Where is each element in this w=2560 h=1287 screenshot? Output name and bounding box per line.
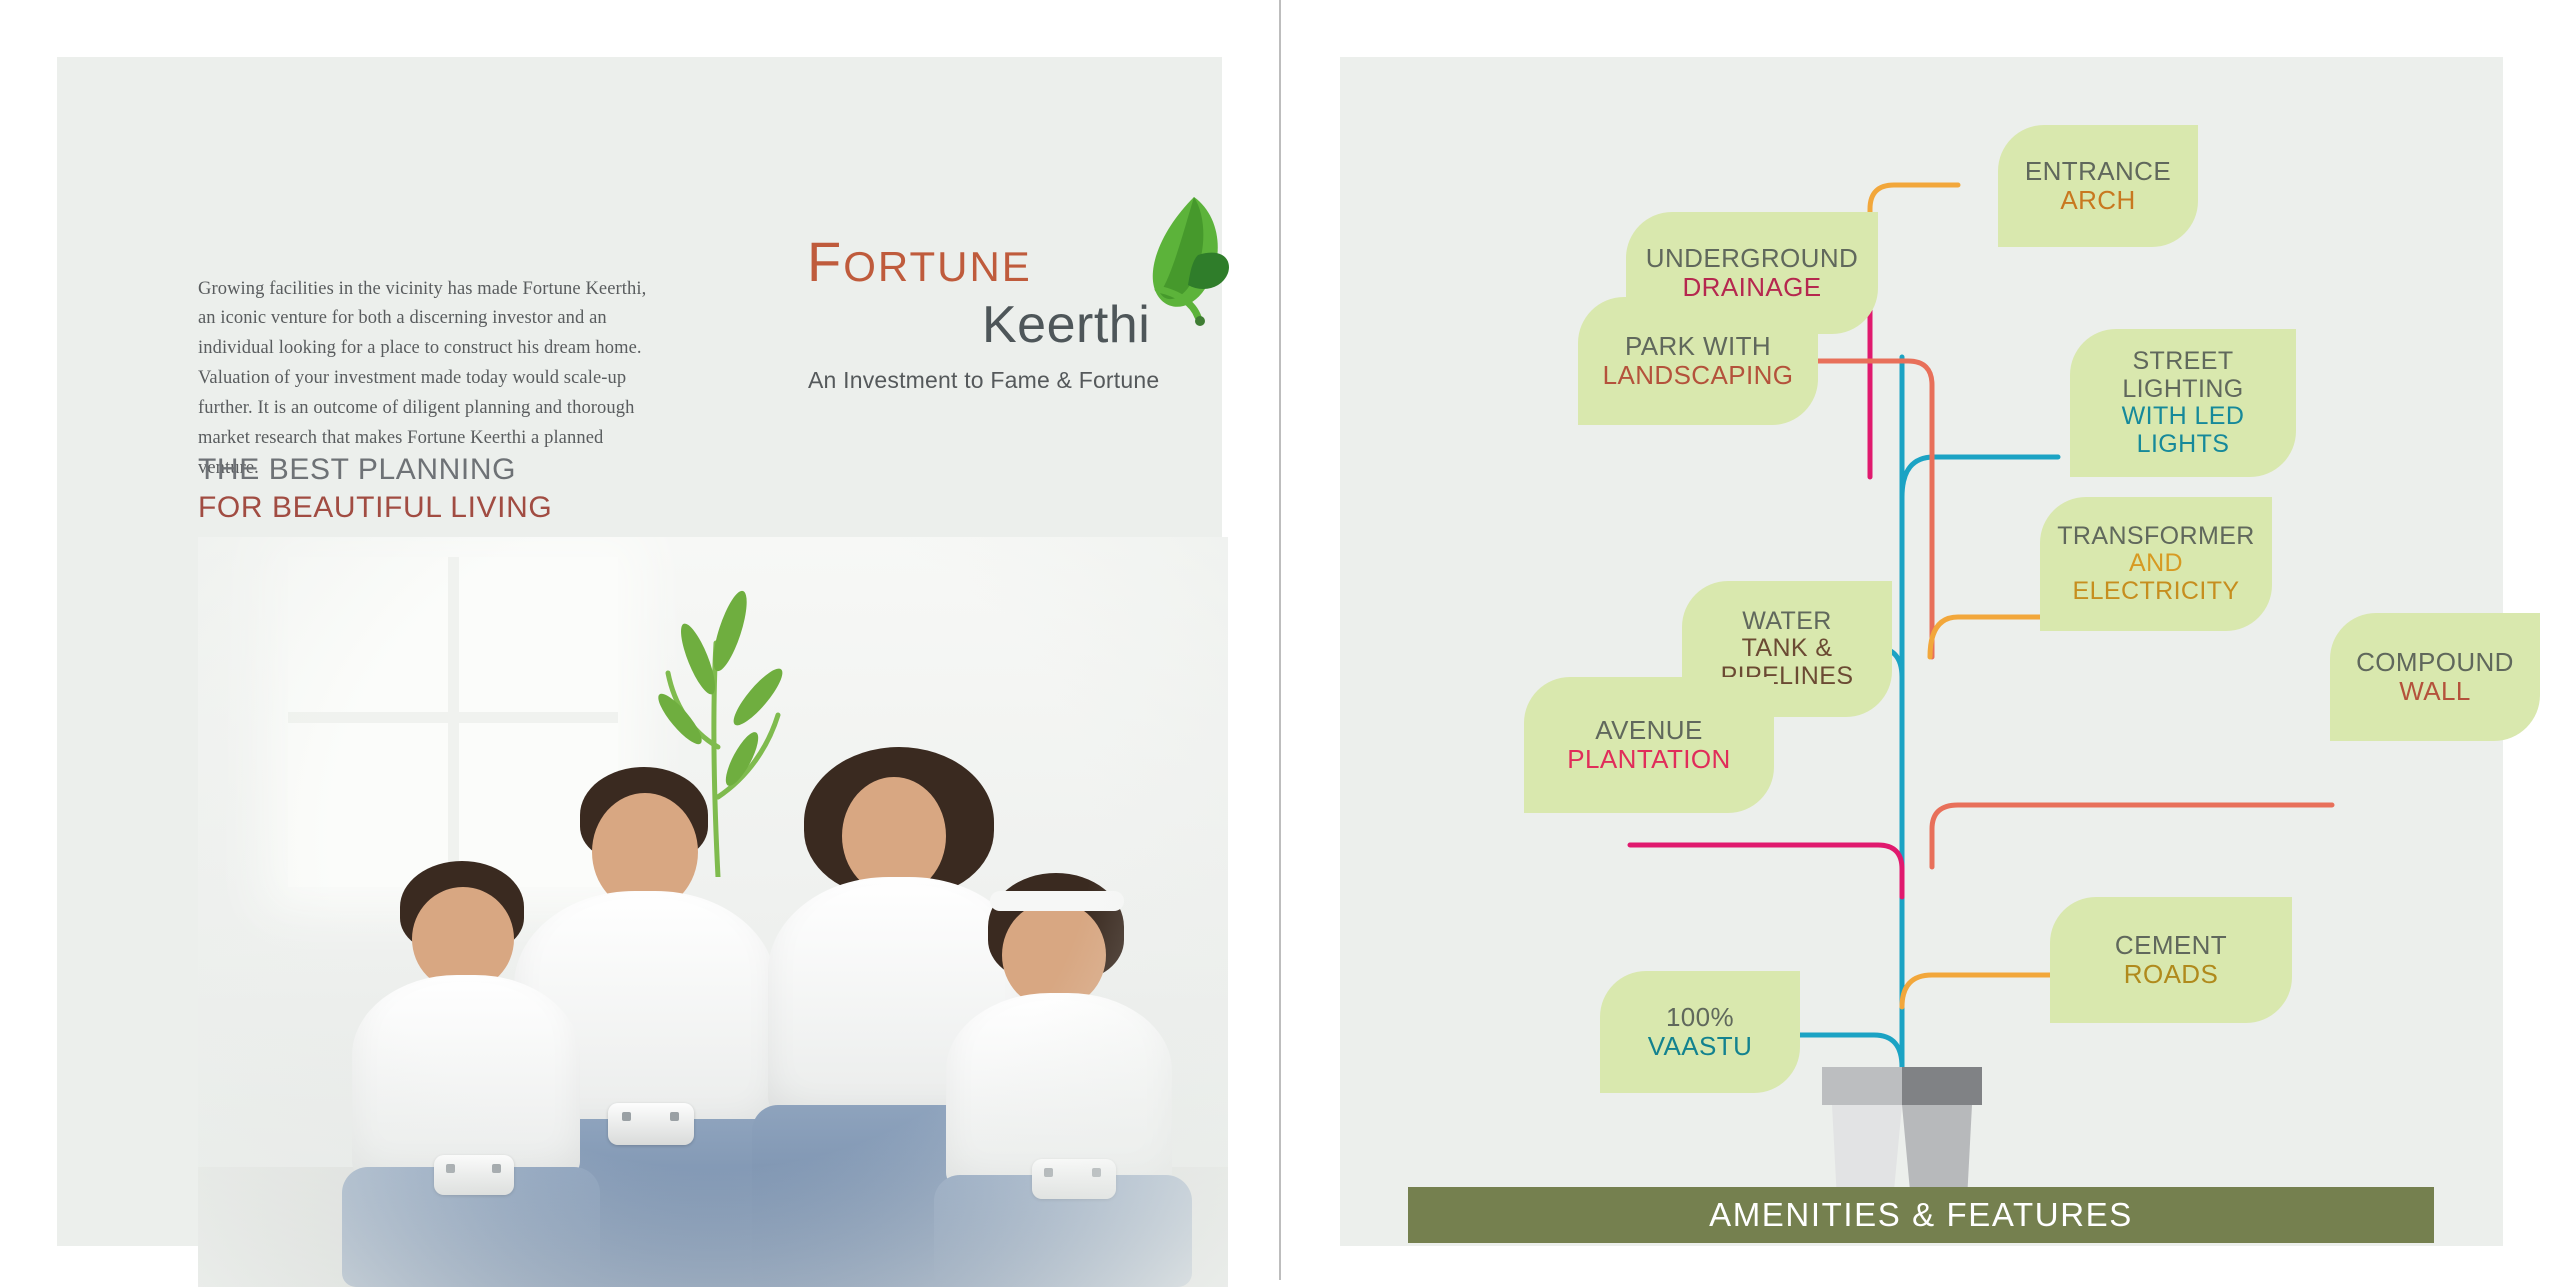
left-page: Growing facilities in the vicinity has m… bbox=[57, 57, 1222, 1246]
node-avenue-plantation-line1: AVENUE bbox=[1595, 716, 1702, 745]
connector-entrance-arch bbox=[1870, 185, 1958, 357]
node-vaastu-line2: VAASTU bbox=[1648, 1032, 1753, 1061]
node-compound-wall[interactable]: COMPOUND WALL bbox=[2330, 613, 2540, 741]
photo-vignette bbox=[198, 537, 1228, 1287]
family-lifestyle-photo bbox=[198, 537, 1228, 1287]
headline-line-2: FOR BEAUTIFUL LIVING bbox=[198, 489, 552, 527]
connector-street-lighting bbox=[1902, 457, 2058, 497]
node-park-landscaping[interactable]: PARK WITH LANDSCAPING bbox=[1578, 297, 1818, 425]
node-vaastu-line1: 100% bbox=[1666, 1003, 1734, 1032]
node-street-lighting-line1: STREET bbox=[2132, 348, 2233, 376]
node-avenue-plantation[interactable]: AVENUE PLANTATION bbox=[1524, 677, 1774, 813]
node-street-lighting[interactable]: STREET LIGHTING WITH LED LIGHTS bbox=[2070, 329, 2296, 477]
node-cement-roads-line2: ROADS bbox=[2124, 960, 2218, 989]
amenities-banner: AMENITIES & FEATURES bbox=[1408, 1187, 2434, 1243]
node-cement-roads[interactable]: CEMENT ROADS bbox=[2050, 897, 2292, 1023]
node-park-landscaping-line1: PARK WITH bbox=[1625, 332, 1771, 361]
page-title: THE BEST PLANNING FOR BEAUTIFUL LIVING bbox=[198, 451, 552, 527]
node-street-lighting-line4: LIGHTS bbox=[2137, 431, 2230, 459]
pot-rim-right bbox=[1902, 1067, 1982, 1105]
leaf-icon bbox=[1102, 189, 1232, 339]
node-vaastu[interactable]: 100% VAASTU bbox=[1600, 971, 1800, 1093]
logo-wordmark-fortune: FORTUNE bbox=[807, 229, 1032, 294]
node-entrance-arch[interactable]: ENTRANCE ARCH bbox=[1998, 125, 2198, 247]
node-transformer-line1: TRANSFORMER bbox=[2057, 523, 2254, 551]
node-street-lighting-line3: WITH LED bbox=[2122, 403, 2245, 431]
brand-logo: FORTUNE Keerthi An Investment to Fame & … bbox=[802, 207, 1222, 407]
node-transformer-line3: ELECTRICITY bbox=[2073, 578, 2240, 606]
page-gutter-divider bbox=[1279, 0, 1281, 1280]
connector-cement-roads bbox=[1902, 975, 2052, 1007]
connector-compound-wall bbox=[1932, 805, 2332, 867]
connector-avenue-plantation bbox=[1630, 845, 1902, 897]
node-entrance-arch-line1: ENTRANCE bbox=[2025, 157, 2171, 186]
node-entrance-arch-line2: ARCH bbox=[2060, 186, 2135, 215]
connector-transformer bbox=[1930, 617, 2040, 657]
node-park-landscaping-line2: LANDSCAPING bbox=[1603, 361, 1794, 390]
brochure-spread: Growing facilities in the vicinity has m… bbox=[0, 0, 2560, 1280]
node-avenue-plantation-line2: PLANTATION bbox=[1567, 745, 1730, 774]
amenities-banner-label: AMENITIES & FEATURES bbox=[1709, 1196, 2133, 1234]
node-compound-wall-line2: WALL bbox=[2399, 677, 2470, 706]
headline-line-1: THE BEST PLANNING bbox=[198, 451, 552, 489]
pot-rim-left bbox=[1822, 1067, 1902, 1105]
node-water-line2: TANK & bbox=[1742, 635, 1833, 663]
node-transformer-electricity[interactable]: TRANSFORMER AND ELECTRICITY bbox=[2040, 497, 2272, 631]
logo-tagline: An Investment to Fame & Fortune bbox=[808, 367, 1159, 394]
node-cement-roads-line1: CEMENT bbox=[2115, 931, 2227, 960]
node-underground-drainage-line1: UNDERGROUND bbox=[1646, 244, 1858, 273]
node-water-line1: WATER bbox=[1742, 608, 1832, 636]
node-transformer-line2: AND bbox=[2129, 550, 2183, 578]
amenities-tree-diagram: ENTRANCE ARCH UNDERGROUND DRAINAGE STREE… bbox=[1340, 57, 2503, 1246]
node-compound-wall-line1: COMPOUND bbox=[2356, 648, 2514, 677]
node-street-lighting-line2: LIGHTING bbox=[2122, 376, 2243, 404]
